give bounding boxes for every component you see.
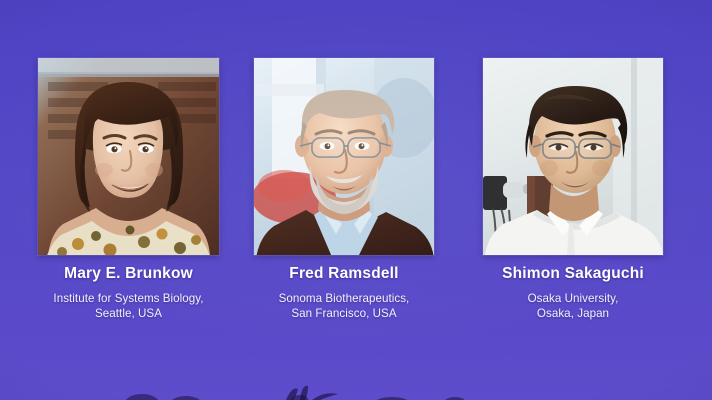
laureate-name: Mary E. Brunkow [38, 265, 219, 283]
laureate-name: Fred Ramsdell [254, 265, 434, 283]
laureate-card: Shimon Sakaguchi Osaka University, Osaka… [483, 58, 663, 321]
laureate-row: Mary E. Brunkow Institute for Systems Bi… [0, 0, 712, 400]
portrait-mary-brunkow [38, 58, 219, 255]
affiliation-line-1: Sonoma Biotherapeutics, [279, 292, 410, 305]
laureate-card: Mary E. Brunkow Institute for Systems Bi… [38, 58, 219, 321]
affiliation-line-2: San Francisco, USA [254, 307, 434, 322]
laureate-card: Fred Ramsdell Sonoma Biotherapeutics, Sa… [254, 58, 434, 321]
affiliation-line-2: Osaka, Japan [483, 307, 663, 322]
affiliation-line-1: Institute for Systems Biology, [53, 292, 203, 305]
presentation-slide: Mary E. Brunkow Institute for Systems Bi… [0, 0, 712, 400]
affiliation-line-1: Osaka University, [528, 292, 619, 305]
affiliation-line-2: Seattle, USA [38, 307, 219, 322]
laureate-affiliation: Osaka University, Osaka, Japan [483, 292, 663, 321]
portrait-shimon-sakaguchi [483, 58, 663, 255]
laureate-name: Shimon Sakaguchi [483, 265, 663, 283]
portrait-fred-ramsdell [254, 58, 434, 255]
laureate-affiliation: Institute for Systems Biology, Seattle, … [38, 292, 219, 321]
laureate-affiliation: Sonoma Biotherapeutics, San Francisco, U… [254, 292, 434, 321]
